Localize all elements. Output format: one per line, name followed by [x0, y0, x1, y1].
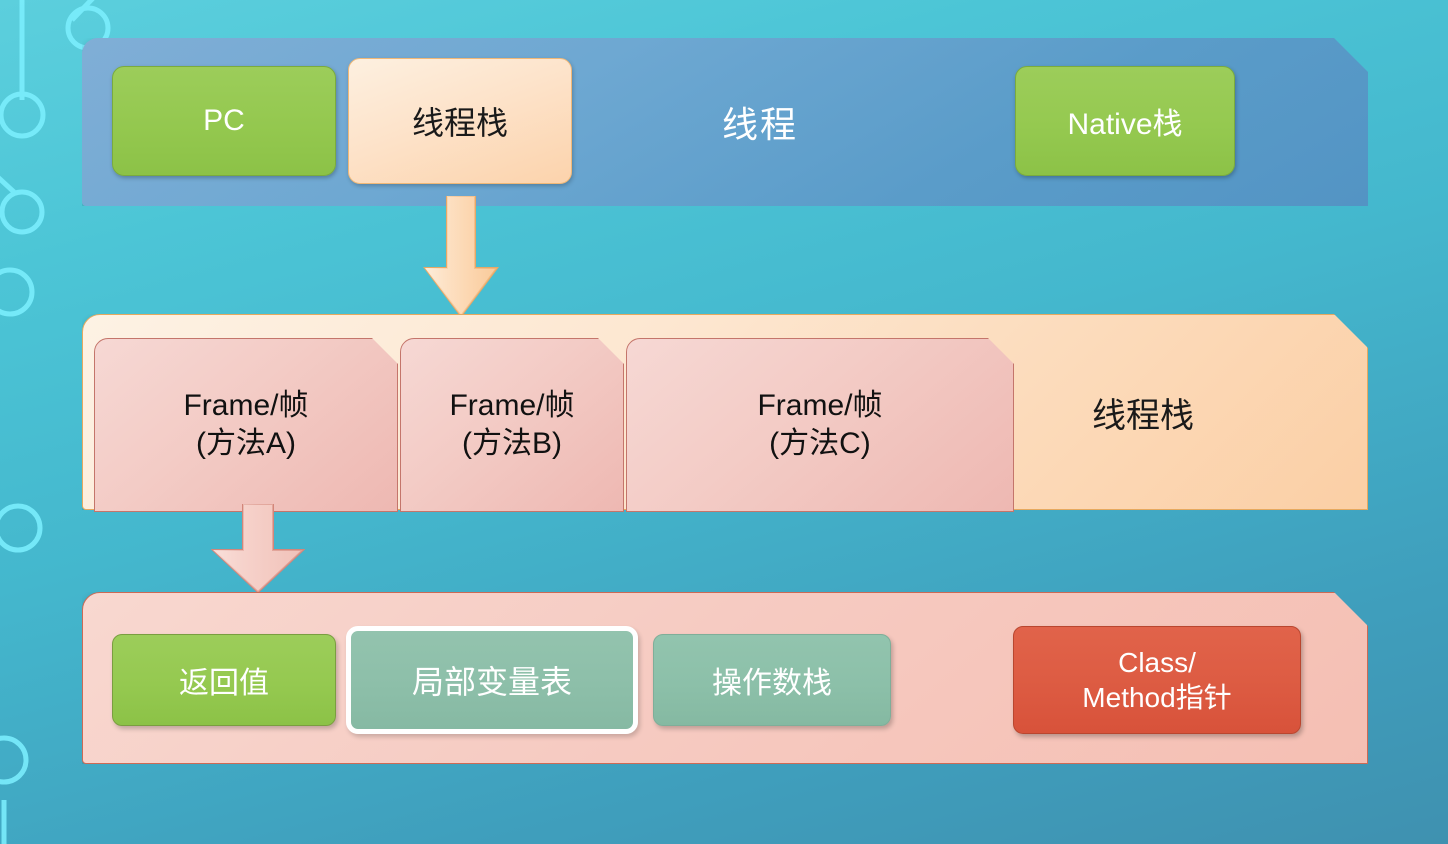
- thread-stack-row-label: 线程栈: [1092, 314, 1194, 510]
- local-variable-table-box[interactable]: 局部变量表: [346, 626, 638, 734]
- slide-canvas: 线程 PC 线程栈 Native栈 Frame/帧 (方法A): [0, 0, 1448, 844]
- return-value-label: 返回值: [179, 658, 269, 702]
- arrow-down-frame-to-internals-icon: [211, 504, 305, 594]
- return-value-box[interactable]: 返回值: [112, 634, 336, 726]
- frame-c-line1: Frame/帧: [757, 389, 882, 422]
- frame-b-line1: Frame/帧: [449, 389, 574, 422]
- class-method-pointer-box[interactable]: Class/ Method指针: [1013, 626, 1301, 734]
- frame-a-line1: Frame/帧: [183, 389, 308, 422]
- class-method-pointer-text: Class/ Method指针: [1082, 645, 1231, 715]
- class-method-pointer-line2: Method指针: [1082, 682, 1231, 713]
- pc-box[interactable]: PC: [112, 66, 336, 176]
- frame-b-line2: (方法B): [462, 427, 562, 460]
- thread-bar: 线程 PC 线程栈 Native栈: [82, 38, 1368, 206]
- frame-b-text: Frame/帧 (方法B): [449, 387, 574, 464]
- frame-box-a[interactable]: Frame/帧 (方法A): [94, 338, 398, 512]
- frame-internals-row: 返回值 局部变量表 操作数栈 Class/ Method指针: [82, 592, 1368, 764]
- frame-a-line2: (方法A): [196, 427, 296, 460]
- frame-c-text: Frame/帧 (方法C): [757, 387, 882, 464]
- frame-box-c[interactable]: Frame/帧 (方法C): [626, 338, 1014, 512]
- class-method-pointer-line1: Class/: [1118, 647, 1196, 678]
- operand-stack-label: 操作数栈: [712, 658, 832, 702]
- frame-a-text: Frame/帧 (方法A): [183, 387, 308, 464]
- frame-box-b[interactable]: Frame/帧 (方法B): [400, 338, 624, 512]
- frame-c-line2: (方法C): [769, 427, 871, 460]
- native-stack-label: Native栈: [1067, 99, 1182, 143]
- arrow-down-thread-to-stack-icon: [423, 196, 499, 318]
- operand-stack-box[interactable]: 操作数栈: [653, 634, 891, 726]
- thread-bar-label: 线程: [722, 38, 798, 206]
- thread-stack-row: Frame/帧 (方法A) Frame/帧 (方法B) Frame/帧 (方法C…: [82, 314, 1368, 510]
- thread-stack-box[interactable]: 线程栈: [348, 58, 572, 184]
- native-stack-box[interactable]: Native栈: [1015, 66, 1235, 176]
- pc-label: PC: [203, 104, 245, 138]
- thread-stack-label: 线程栈: [412, 98, 508, 144]
- local-variable-table-label: 局部变量表: [412, 657, 572, 703]
